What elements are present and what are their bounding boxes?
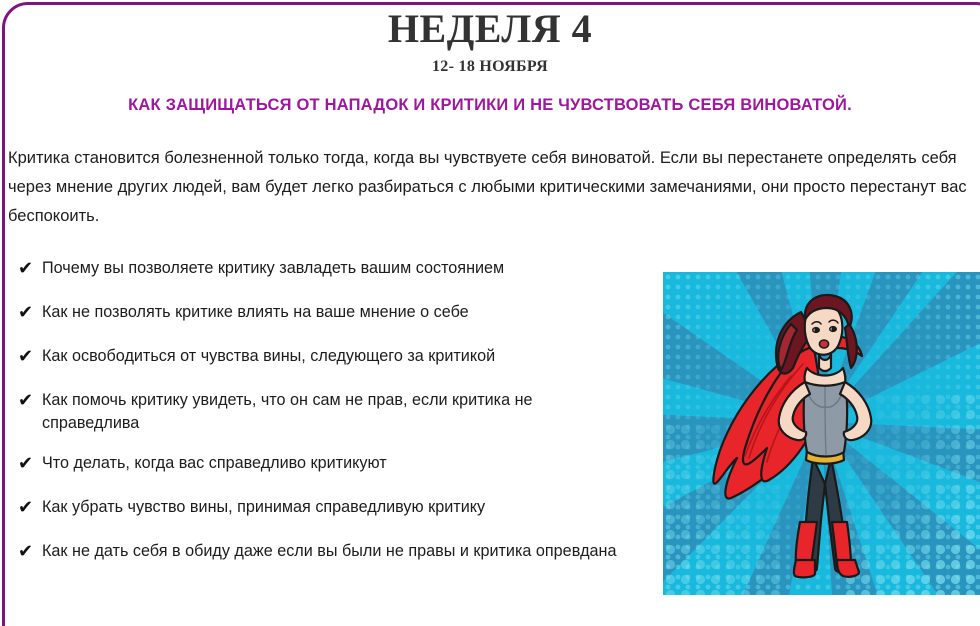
check-icon: ✔	[18, 347, 38, 367]
list-item: ✔ Как не позволять критике влиять на ваш…	[6, 301, 626, 324]
list-item: ✔ Что делать, когда вас справедливо крит…	[6, 452, 626, 475]
list-item-label: Как помочь критику увидеть, что он сам н…	[42, 391, 533, 432]
check-icon: ✔	[18, 498, 38, 518]
content-area: ✔ Почему вы позволяете критику завладеть…	[0, 257, 980, 563]
boot-right-lower	[837, 560, 859, 577]
list-item-label: Как не дать себя в обиду даже если вы бы…	[42, 542, 617, 560]
list-item-label: Как убрать чувство вины, принимая справе…	[42, 498, 485, 516]
worksheet-page: НЕДЕЛЯ 4 12- 18 НОЯБРЯ КАК ЗАЩИЩАТЬСЯ ОТ…	[0, 0, 980, 626]
list-item: ✔ Как помочь критику увидеть, что он сам…	[6, 389, 626, 435]
check-icon: ✔	[18, 259, 38, 279]
superhero-illustration	[663, 272, 980, 595]
check-icon: ✔	[18, 542, 38, 562]
pupil-right	[832, 328, 835, 331]
check-icon: ✔	[18, 391, 38, 411]
check-icon: ✔	[18, 454, 38, 474]
intro-paragraph: Критика становится болезненной только то…	[8, 144, 970, 231]
list-item: ✔ Как не дать себя в обиду даже если вы …	[6, 540, 626, 563]
list-item-label: Почему вы позволяете критику завладеть в…	[42, 259, 504, 277]
list-item: ✔ Как освободиться от чувства вины, след…	[6, 345, 626, 368]
pupil-left	[815, 329, 818, 332]
list-item: ✔ Почему вы позволяете критику завладеть…	[6, 257, 626, 280]
check-icon: ✔	[18, 303, 38, 323]
list-item-label: Как не позволять критике влиять на ваше …	[42, 303, 469, 321]
date-range: 12- 18 НОЯБРЯ	[0, 56, 980, 78]
list-item-label: Что делать, когда вас справедливо критик…	[42, 454, 387, 472]
list-item: ✔ Как убрать чувство вины, принимая спра…	[6, 496, 626, 519]
superhero-svg	[663, 272, 980, 595]
topics-checklist: ✔ Почему вы позволяете критику завладеть…	[0, 257, 626, 563]
boot-left-lower	[794, 560, 815, 577]
list-item-label: Как освободиться от чувства вины, следую…	[42, 347, 495, 365]
page-subtitle: КАК ЗАЩИЩАТЬСЯ ОТ НАПАДОК И КРИТИКИ И НЕ…	[0, 94, 980, 116]
page-title: НЕДЕЛЯ 4	[0, 6, 980, 52]
mouth	[819, 340, 828, 348]
page-header: НЕДЕЛЯ 4 12- 18 НОЯБРЯ КАК ЗАЩИЩАТЬСЯ ОТ…	[0, 0, 980, 116]
